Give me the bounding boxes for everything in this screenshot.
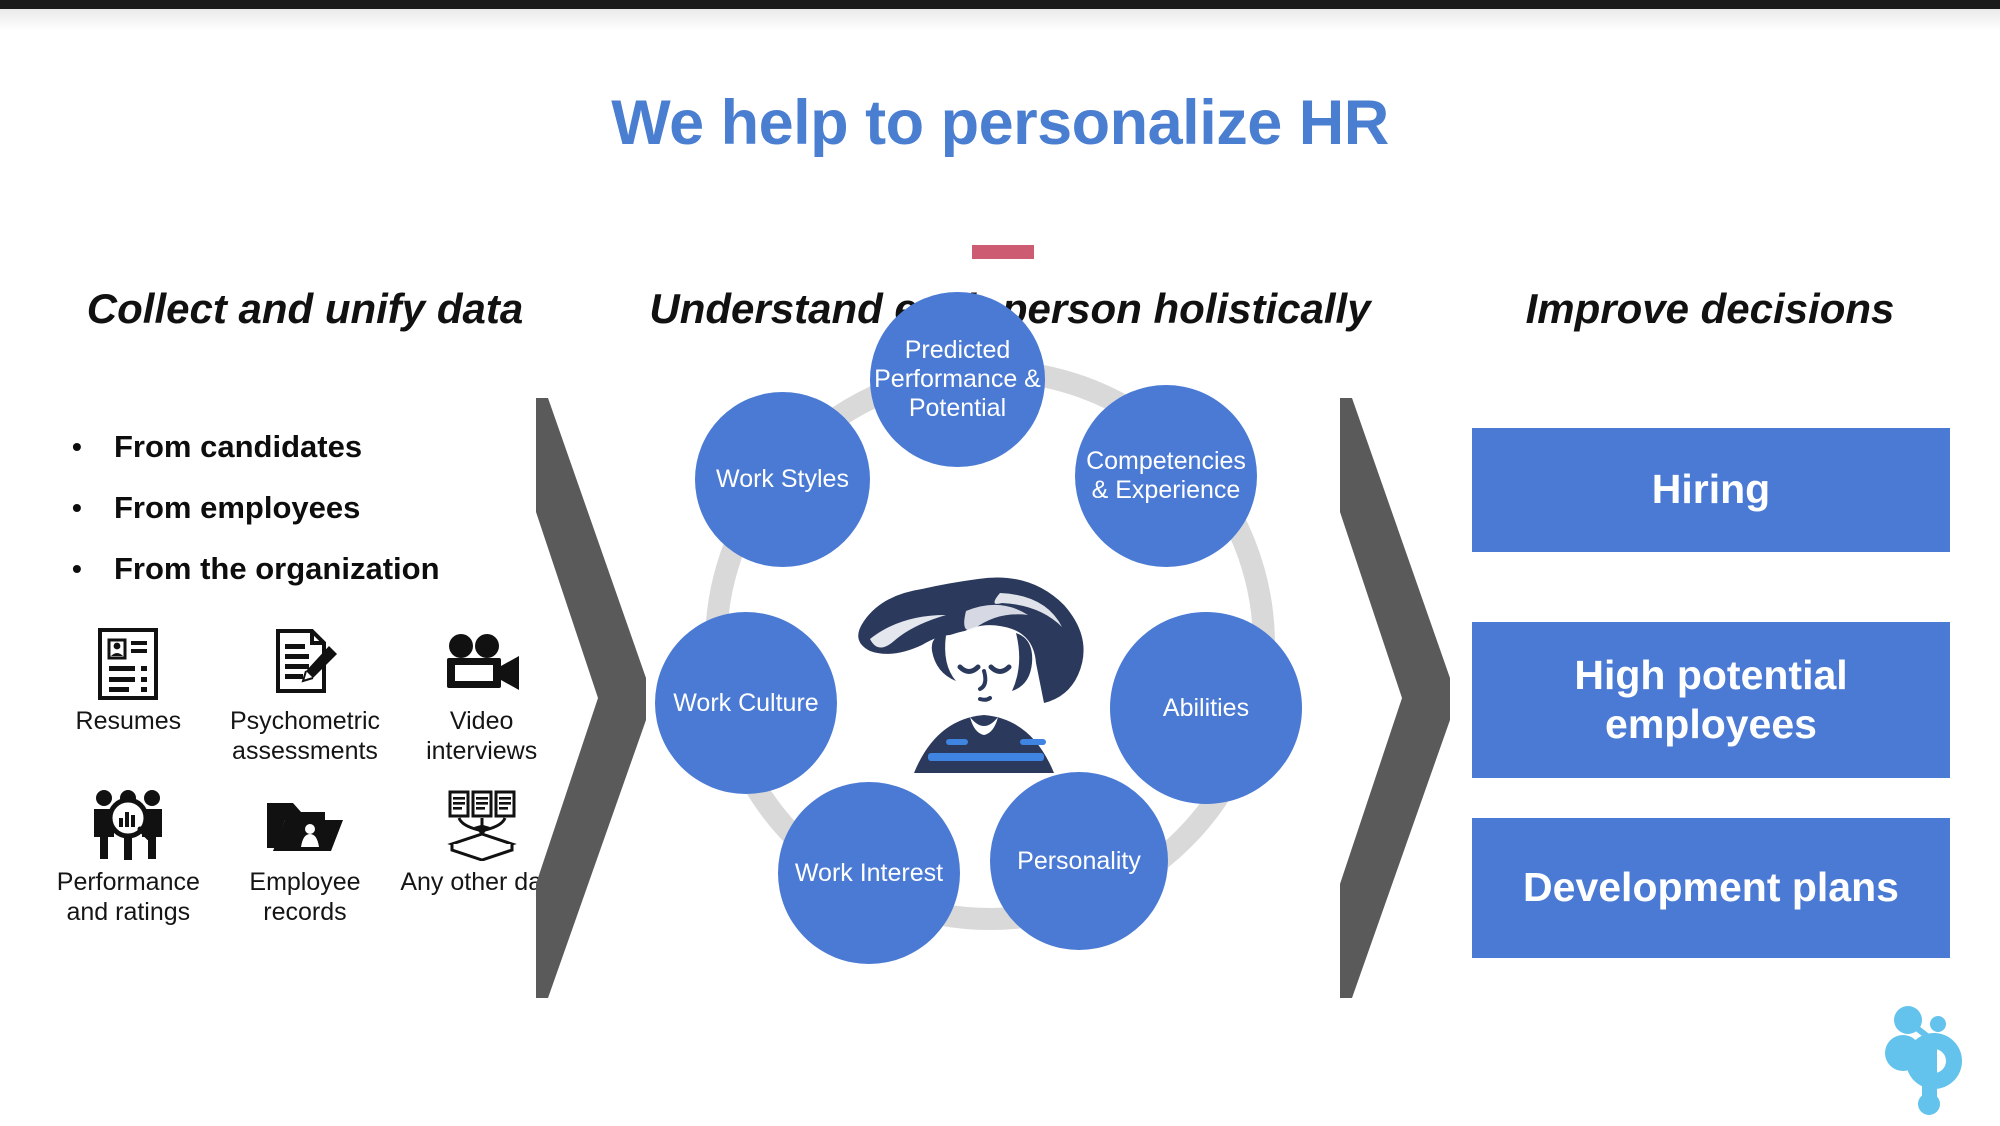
title-accent-bar: [972, 245, 1034, 259]
bullet-item: • From the organization: [72, 552, 542, 586]
assessment-pencil-icon: [217, 625, 394, 703]
source-item-psychometric: Psychometric assessments: [217, 625, 394, 766]
employee-folder-icon: [217, 786, 394, 864]
holistic-node-work-interest[interactable]: Work Interest: [778, 782, 960, 964]
slide-canvas: We help to personalize HR Collect and un…: [0, 0, 2000, 1126]
decision-box-development-plans[interactable]: Development plans: [1472, 818, 1950, 958]
source-item-records: Employee records: [217, 786, 394, 927]
source-caption: Performance and ratings: [40, 868, 217, 927]
holistic-node-personality[interactable]: Personality: [990, 772, 1168, 950]
source-item-resumes: Resumes: [40, 625, 217, 766]
decision-label: Hiring: [1652, 465, 1770, 514]
data-source-icon-grid: Resumes Psychometric assessments: [40, 625, 570, 927]
viewer-top-fade: [0, 9, 2000, 31]
node-label: Personality: [1017, 847, 1141, 876]
source-caption: Psychometric assessments: [217, 707, 394, 766]
data-sources-bullet-list: • From candidates • From employees • Fro…: [72, 430, 542, 613]
bullet-marker: •: [72, 430, 114, 464]
holistic-node-abilities[interactable]: Abilities: [1110, 612, 1302, 804]
slide-title: We help to personalize HR: [0, 90, 2000, 156]
viewer-top-bar: [0, 0, 2000, 9]
holistic-node-predicted-performance[interactable]: Predicted Performance & Potential: [870, 292, 1045, 467]
bullet-marker: •: [72, 491, 114, 525]
bullet-label: From candidates: [114, 430, 362, 464]
p-network-logo: [1872, 1000, 1990, 1118]
bullet-marker: •: [72, 552, 114, 586]
bullet-label: From employees: [114, 491, 360, 525]
decision-label: Development plans: [1523, 863, 1899, 912]
holistic-node-competencies[interactable]: Competencies & Experience: [1075, 385, 1257, 567]
chevron-right-arrow: [1340, 398, 1450, 998]
resume-document-icon: [40, 625, 217, 703]
column-heading-improve: Improve decisions: [1420, 285, 2000, 333]
node-label: Predicted Performance & Potential: [870, 336, 1045, 423]
person-illustration: [850, 575, 1120, 775]
column-heading-collect: Collect and unify data: [0, 285, 610, 333]
bullet-item: • From employees: [72, 491, 542, 525]
decision-box-high-potential[interactable]: High potential employees: [1472, 622, 1950, 778]
source-item-performance: Performance and ratings: [40, 786, 217, 927]
bullet-item: • From candidates: [72, 430, 542, 464]
decision-box-hiring[interactable]: Hiring: [1472, 428, 1950, 552]
people-analytics-icon: [40, 786, 217, 864]
source-caption: Employee records: [217, 868, 394, 927]
node-label: Work Styles: [716, 465, 849, 494]
node-label: Competencies & Experience: [1075, 447, 1257, 505]
node-label: Work Culture: [673, 689, 818, 718]
node-label: Abilities: [1163, 694, 1249, 723]
bullet-label: From the organization: [114, 552, 440, 586]
holistic-node-work-styles[interactable]: Work Styles: [695, 392, 870, 567]
node-label: Work Interest: [795, 859, 943, 888]
source-caption: Resumes: [40, 707, 217, 737]
holistic-node-work-culture[interactable]: Work Culture: [655, 612, 837, 794]
decision-label: High potential employees: [1472, 651, 1950, 749]
holistic-person-ring: Predicted Performance & Potential Compet…: [620, 330, 1360, 1070]
